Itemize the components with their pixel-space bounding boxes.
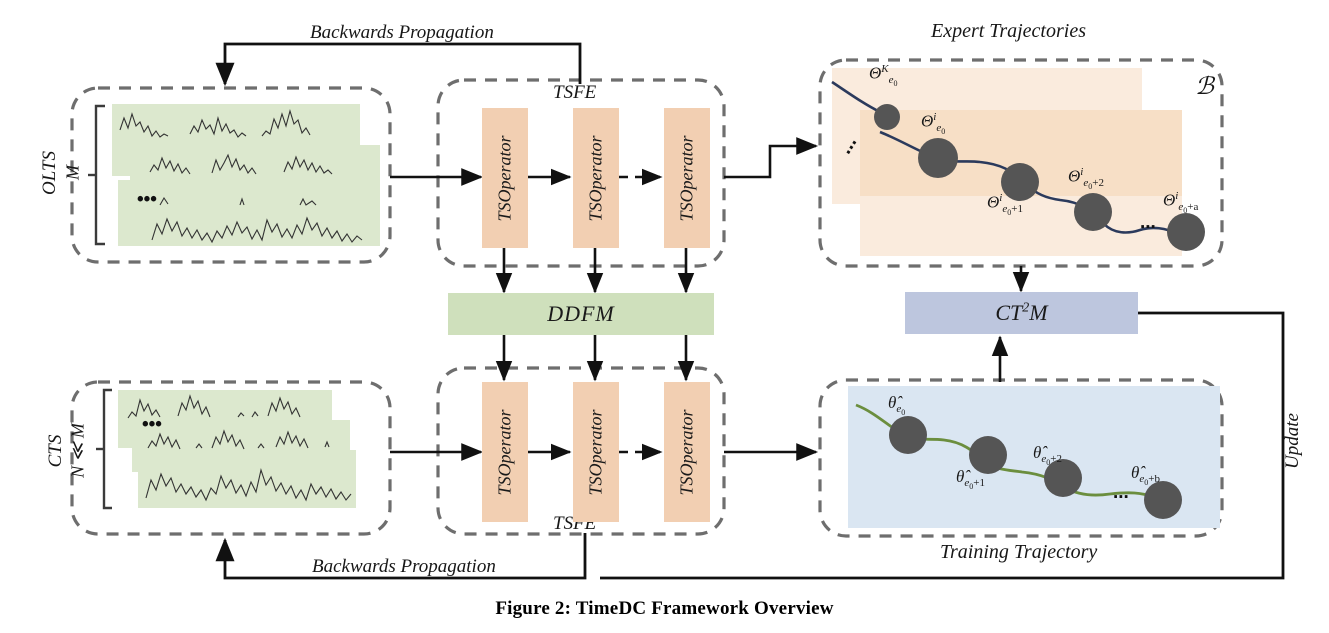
tsoperator-bottom-2-label: TSOperator — [586, 409, 607, 495]
olts-label: OLTS — [39, 133, 61, 213]
training-node-0 — [889, 416, 927, 454]
n-bracket — [96, 390, 112, 508]
tsoperator-top-3-label: TSOperator — [677, 135, 698, 221]
training-label-1: θ̂e0+1 — [956, 467, 985, 492]
update-label: Update — [1282, 396, 1304, 486]
tsoperator-bottom-1[interactable]: TSOperator — [482, 382, 528, 522]
expert-trajectory-sheets — [832, 68, 1182, 256]
buffer-symbol-label: ℬ — [1195, 72, 1214, 101]
expert-trajectories-title: Expert Trajectories — [931, 20, 1086, 43]
tsoperator-top-1-label: TSOperator — [495, 135, 516, 221]
tsoperator-bottom-3-label: TSOperator — [677, 409, 698, 495]
backprop-top-label: Backwards Propagation — [310, 22, 494, 44]
backprop-bottom-label: Backwards Propagation — [312, 556, 496, 578]
ct2m-label: CT2M — [995, 300, 1047, 326]
tsoperator-bottom-3[interactable]: TSOperator — [664, 382, 710, 522]
training-trailing-ellipsis: ... — [1113, 482, 1129, 503]
tsoperator-bottom-1-label: TSOperator — [495, 409, 516, 495]
cts-stack-ellipsis: ••• — [142, 414, 162, 435]
expert-node-a — [1167, 213, 1205, 251]
cts-label: CTS — [45, 411, 67, 491]
expert-trailing-ellipsis: ... — [1140, 212, 1156, 233]
expert-label-a: Θie0+a — [1163, 190, 1198, 215]
ct2m-tail: M — [1029, 300, 1047, 325]
expert-label-K: ΘKe0 — [869, 63, 898, 88]
tsoperator-top-3[interactable]: TSOperator — [664, 108, 710, 248]
training-label-0: θ̂e0 — [888, 393, 905, 418]
ddfm-label: DDFM — [547, 301, 615, 327]
tsoperator-top-2[interactable]: TSOperator — [573, 108, 619, 248]
m-bracket — [88, 106, 105, 244]
figure-canvas: ••• ••• — [0, 0, 1329, 633]
olts-stack-ellipsis: ••• — [137, 189, 157, 210]
expert-label-2: Θie0+2 — [1068, 166, 1104, 191]
expert-label-0: Θie0 — [921, 111, 945, 136]
m-count-label: M — [63, 143, 84, 203]
arrow-tsfe-to-expert — [724, 146, 816, 177]
tsoperator-top-1[interactable]: TSOperator — [482, 108, 528, 248]
expert-label-1: Θie0+1 — [987, 192, 1023, 217]
training-label-b: θ̂e0+b — [1131, 463, 1160, 488]
ct2m-block[interactable]: CT2M — [905, 292, 1138, 334]
tsoperator-top-2-label: TSOperator — [586, 135, 607, 221]
figure-caption: Figure 2: TimeDC Framework Overview — [0, 598, 1329, 620]
ddfm-block[interactable]: DDFM — [448, 293, 714, 335]
cts-series-sheets — [118, 390, 356, 508]
training-trajectory-title: Training Trajectory — [940, 541, 1097, 564]
expert-node-0 — [918, 138, 958, 178]
tsoperator-bottom-2[interactable]: TSOperator — [573, 382, 619, 522]
expert-node-2 — [1074, 193, 1112, 231]
expert-node-K — [874, 104, 900, 130]
olts-series-sheets — [112, 104, 380, 246]
tsfe-top-label: TSFE — [553, 82, 596, 104]
ct2m-base: CT — [995, 300, 1022, 325]
training-label-2: θ̂e0+2 — [1033, 443, 1062, 468]
n-ll-m-label: N ≪ M — [68, 411, 89, 491]
backprop-top-path — [225, 44, 580, 84]
